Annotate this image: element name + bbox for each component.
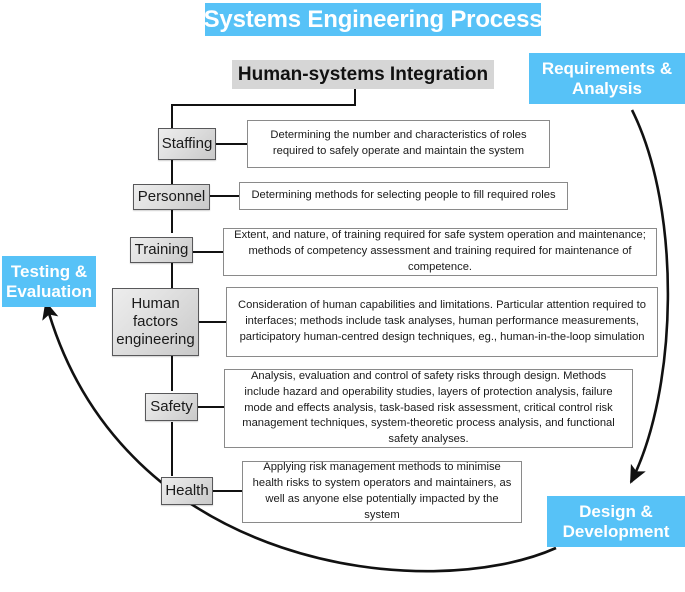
- description-text: Applying risk management methods to mini…: [250, 460, 514, 524]
- root-node-human-systems-integration: Human-systems Integration: [232, 60, 494, 89]
- description-text: Consideration of human capabilities and …: [234, 298, 650, 346]
- stage-box-human-factors-engineering[interactable]: Human factors engineering: [112, 288, 199, 356]
- stage-box-training[interactable]: Training: [130, 237, 193, 263]
- stage-box-personnel[interactable]: Personnel: [133, 184, 210, 210]
- stage-box-health[interactable]: Health: [161, 477, 213, 505]
- description-text: Analysis, evaluation and control of safe…: [232, 369, 625, 449]
- description-box-safety: Analysis, evaluation and control of safe…: [224, 369, 633, 448]
- description-box-health: Applying risk management methods to mini…: [242, 461, 522, 523]
- stage-box-staffing[interactable]: Staffing: [158, 128, 216, 160]
- description-box-personnel: Determining methods for selecting people…: [239, 182, 568, 210]
- page-title: Systems Engineering Process: [205, 3, 541, 36]
- description-text: Determining the number and characteristi…: [255, 128, 542, 160]
- phase-box-testing-evaluation[interactable]: Testing & Evaluation: [2, 256, 96, 307]
- stage-box-safety[interactable]: Safety: [145, 393, 198, 421]
- phase-box-design-development[interactable]: Design & Development: [547, 496, 685, 547]
- diagram-canvas: Systems Engineering Process Human-system…: [0, 0, 685, 592]
- description-box-training: Extent, and nature, of training required…: [223, 228, 657, 276]
- description-box-staffing: Determining the number and characteristi…: [247, 120, 550, 168]
- phase-box-requirements-analysis[interactable]: Requirements & Analysis: [529, 53, 685, 104]
- description-text: Determining methods for selecting people…: [247, 188, 560, 204]
- description-box-human-factors-engineering: Consideration of human capabilities and …: [226, 287, 658, 357]
- description-text: Extent, and nature, of training required…: [231, 228, 649, 276]
